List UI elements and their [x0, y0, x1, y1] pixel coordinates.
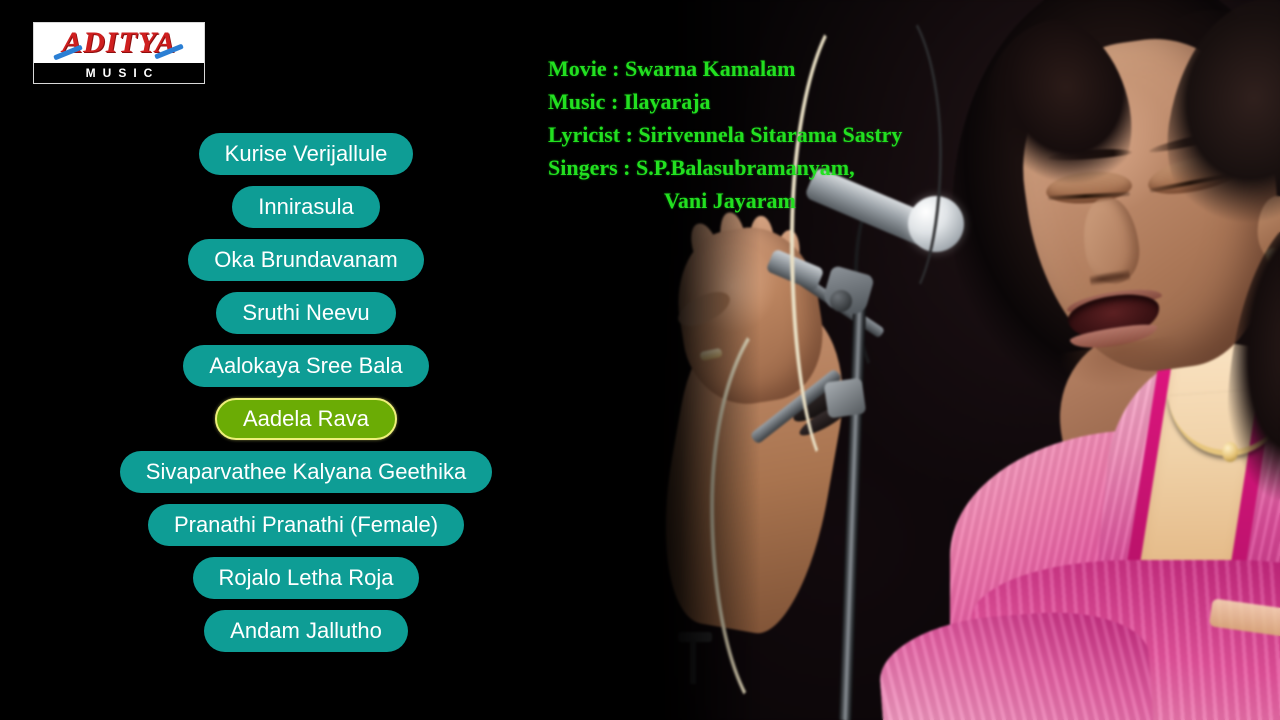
track-item[interactable]: Aalokaya Sree Bala: [183, 345, 428, 387]
logo-sub-text: MUSIC: [34, 63, 204, 83]
cable-2: [710, 300, 868, 720]
track-item[interactable]: Oka Brundavanam: [188, 239, 423, 281]
track-list: Kurise VerijalluleInnirasulaOka Brundava…: [0, 133, 612, 663]
track-item[interactable]: Pranathi Pranathi (Female): [148, 504, 464, 546]
jukebox-screen: ADITYA MUSIC Movie : Swarna Kamalam Musi…: [0, 0, 1280, 720]
aditya-music-logo: ADITYA MUSIC: [33, 22, 205, 84]
logo-sub-bar: MUSIC: [34, 63, 204, 83]
credits-block: Movie : Swarna Kamalam Music : Ilayaraja…: [548, 52, 1068, 217]
stage-prop-leg: [690, 640, 696, 684]
track-item[interactable]: Kurise Verijallule: [199, 133, 414, 175]
track-item[interactable]: Aadela Rava: [215, 398, 397, 440]
logo-wordmark-area: ADITYA: [34, 23, 204, 63]
credit-music: Music : Ilayaraja: [548, 85, 1068, 118]
credit-singers-continued: Vani Jayaram: [548, 184, 1068, 217]
credit-movie: Movie : Swarna Kamalam: [548, 52, 1068, 85]
track-item[interactable]: Rojalo Letha Roja: [193, 557, 420, 599]
track-item[interactable]: Sruthi Neevu: [216, 292, 395, 334]
credit-lyricist: Lyricist : Sirivennela Sitarama Sastry: [548, 118, 1068, 151]
track-item[interactable]: Innirasula: [232, 186, 379, 228]
track-item[interactable]: Sivaparvathee Kalyana Geethika: [120, 451, 492, 493]
credit-singers: Singers : S.P.Balasubramanyam,: [548, 151, 1068, 184]
track-item[interactable]: Andam Jallutho: [204, 610, 408, 652]
